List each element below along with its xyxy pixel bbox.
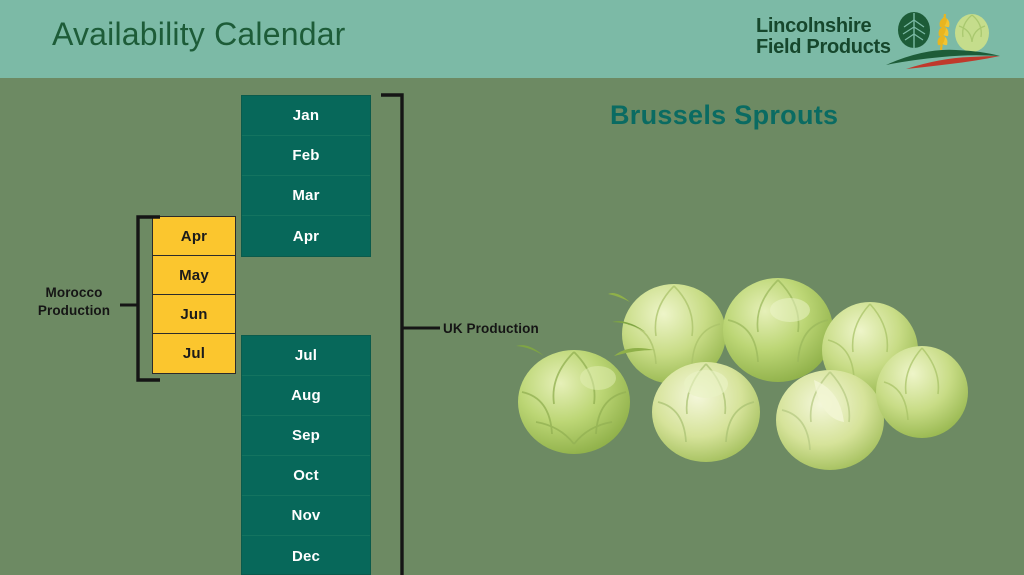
morocco-label-line1: Morocco — [19, 284, 129, 302]
month-cell: Aug — [242, 376, 370, 416]
company-logo: Lincolnshire Field Products — [744, 8, 1002, 72]
month-cell: Jan — [242, 96, 370, 136]
month-cell: Mar — [242, 176, 370, 216]
morocco-production-label: Morocco Production — [19, 284, 129, 320]
uk-month-block-1: Jan Feb Mar Apr — [241, 95, 371, 257]
uk-production-bracket — [380, 90, 450, 575]
month-cell: Feb — [242, 136, 370, 176]
month-cell: Nov — [242, 496, 370, 536]
cabbage-icon — [955, 14, 989, 52]
leaf-icon — [898, 12, 930, 48]
product-title: Brussels Sprouts — [610, 100, 838, 131]
page-title: Availability Calendar — [52, 16, 346, 53]
wheat-icon — [938, 14, 950, 50]
availability-calendar-slide: Availability Calendar Lincolnshire Field… — [0, 0, 1024, 575]
uk-month-block-2: Jul Aug Sep Oct Nov Dec — [241, 335, 371, 575]
month-cell: Apr — [242, 216, 370, 256]
logo-mark — [884, 8, 1002, 70]
morocco-label-line2: Production — [19, 302, 129, 320]
month-cell: Jul — [242, 336, 370, 376]
month-cell: Sep — [242, 416, 370, 456]
month-cell: Dec — [242, 536, 370, 575]
month-cell: Oct — [242, 456, 370, 496]
brussels-sprouts-photo — [478, 272, 978, 472]
